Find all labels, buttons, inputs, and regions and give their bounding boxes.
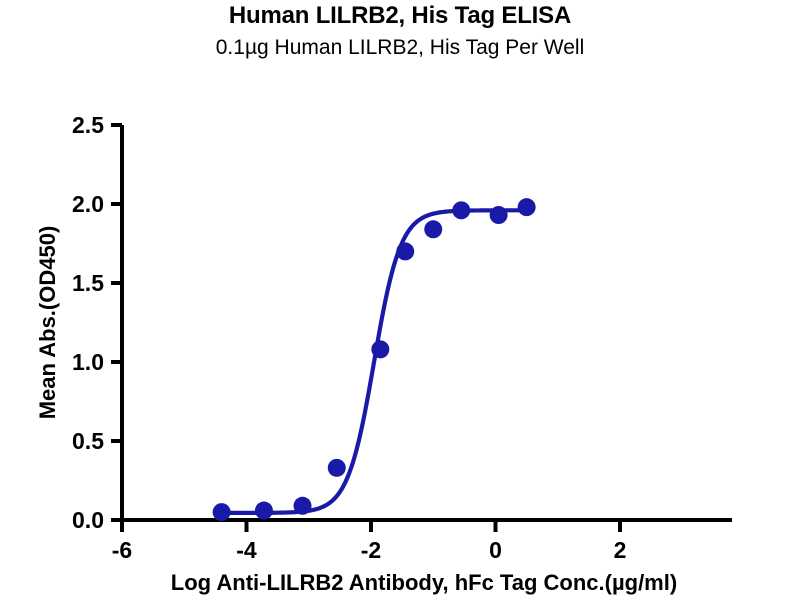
data-point [518, 198, 536, 216]
data-point [371, 340, 389, 358]
x-tick-label: -2 [361, 537, 381, 563]
chart-page: Human LILRB2, His Tag ELISA 0.1µg Human … [0, 0, 800, 600]
data-point [490, 206, 508, 224]
data-point [424, 220, 442, 238]
data-point [328, 459, 346, 477]
y-tick-label: 0.0 [72, 507, 104, 533]
x-tick-labels: -6-4-202 [112, 537, 627, 563]
y-tick-label: 2.5 [72, 112, 104, 138]
y-tick-label: 1.0 [72, 349, 104, 375]
y-axis-title: Mean Abs.(OD450) [35, 226, 60, 420]
data-point [294, 497, 312, 515]
x-tick-label: -6 [112, 537, 132, 563]
axis-lines [111, 125, 732, 532]
x-tick-label: -4 [236, 537, 257, 563]
y-tick-label: 0.5 [72, 428, 104, 454]
data-point [255, 502, 273, 520]
data-point [452, 201, 470, 219]
x-axis-title: Log Anti-LILRB2 Antibody, hFc Tag Conc.(… [171, 570, 677, 595]
fit-curve [222, 210, 527, 513]
data-point [213, 503, 231, 521]
y-tick-label: 2.0 [72, 191, 104, 217]
data-point [396, 242, 414, 260]
y-tick-labels: 0.00.51.01.52.02.5 [72, 112, 104, 533]
chart-plot: 0.00.51.01.52.02.5 -6-4-202 Mean Abs.(OD… [0, 0, 800, 600]
x-tick-label: 2 [614, 537, 627, 563]
y-tick-label: 1.5 [72, 270, 104, 296]
x-tick-label: 0 [489, 537, 502, 563]
